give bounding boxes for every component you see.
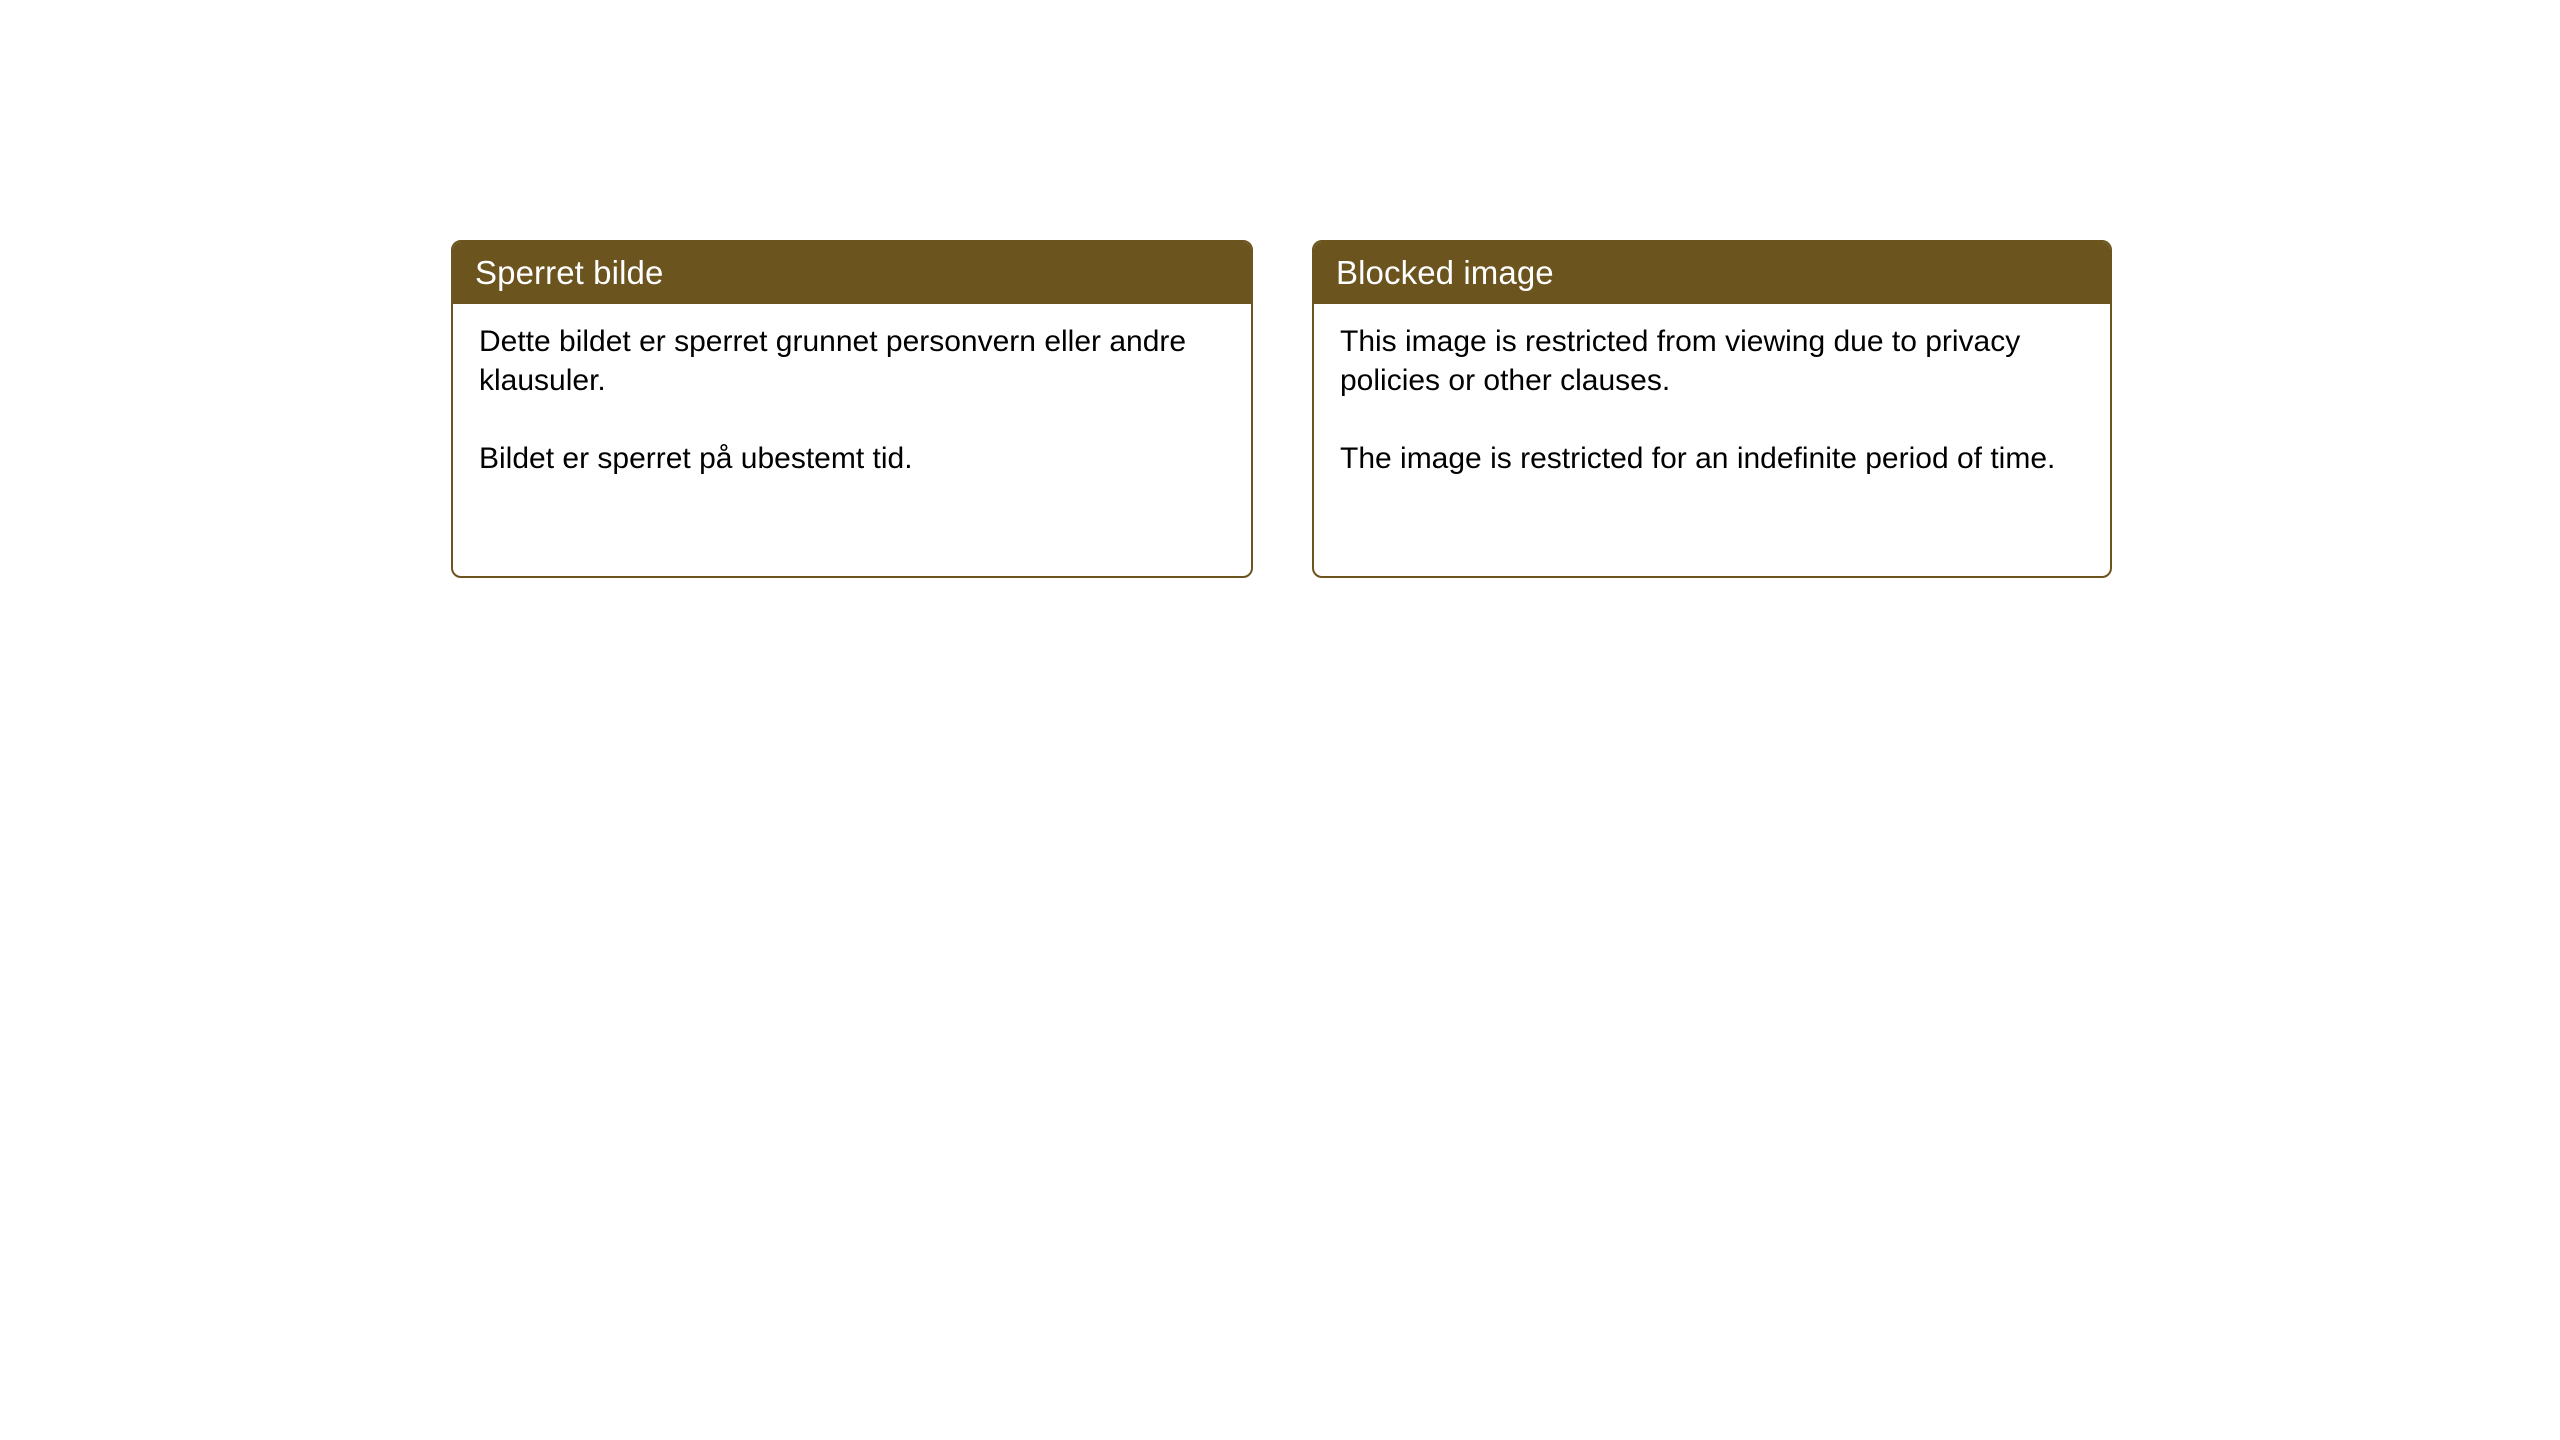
blocked-image-notice-card-norwegian: Sperret bilde Dette bildet er sperret gr… [451, 240, 1253, 578]
card-header-norwegian: Sperret bilde [451, 240, 1253, 304]
paragraph-spacer [1340, 400, 2084, 439]
card-title-english: Blocked image [1336, 256, 1554, 289]
notice-paragraph-secondary-english: The image is restricted for an indefinit… [1340, 439, 2084, 478]
card-body-norwegian: Dette bildet er sperret grunnet personve… [453, 304, 1251, 478]
notice-paragraph-primary-norwegian: Dette bildet er sperret grunnet personve… [479, 322, 1225, 400]
page-canvas: Sperret bilde Dette bildet er sperret gr… [0, 0, 2560, 1440]
notice-paragraph-primary-english: This image is restricted from viewing du… [1340, 322, 2084, 400]
notice-paragraph-secondary-norwegian: Bildet er sperret på ubestemt tid. [479, 439, 1225, 478]
blocked-image-notice-card-english: Blocked image This image is restricted f… [1312, 240, 2112, 578]
card-body-english: This image is restricted from viewing du… [1314, 304, 2110, 478]
card-header-english: Blocked image [1312, 240, 2112, 304]
card-title-norwegian: Sperret bilde [475, 256, 663, 289]
paragraph-spacer [479, 400, 1225, 439]
